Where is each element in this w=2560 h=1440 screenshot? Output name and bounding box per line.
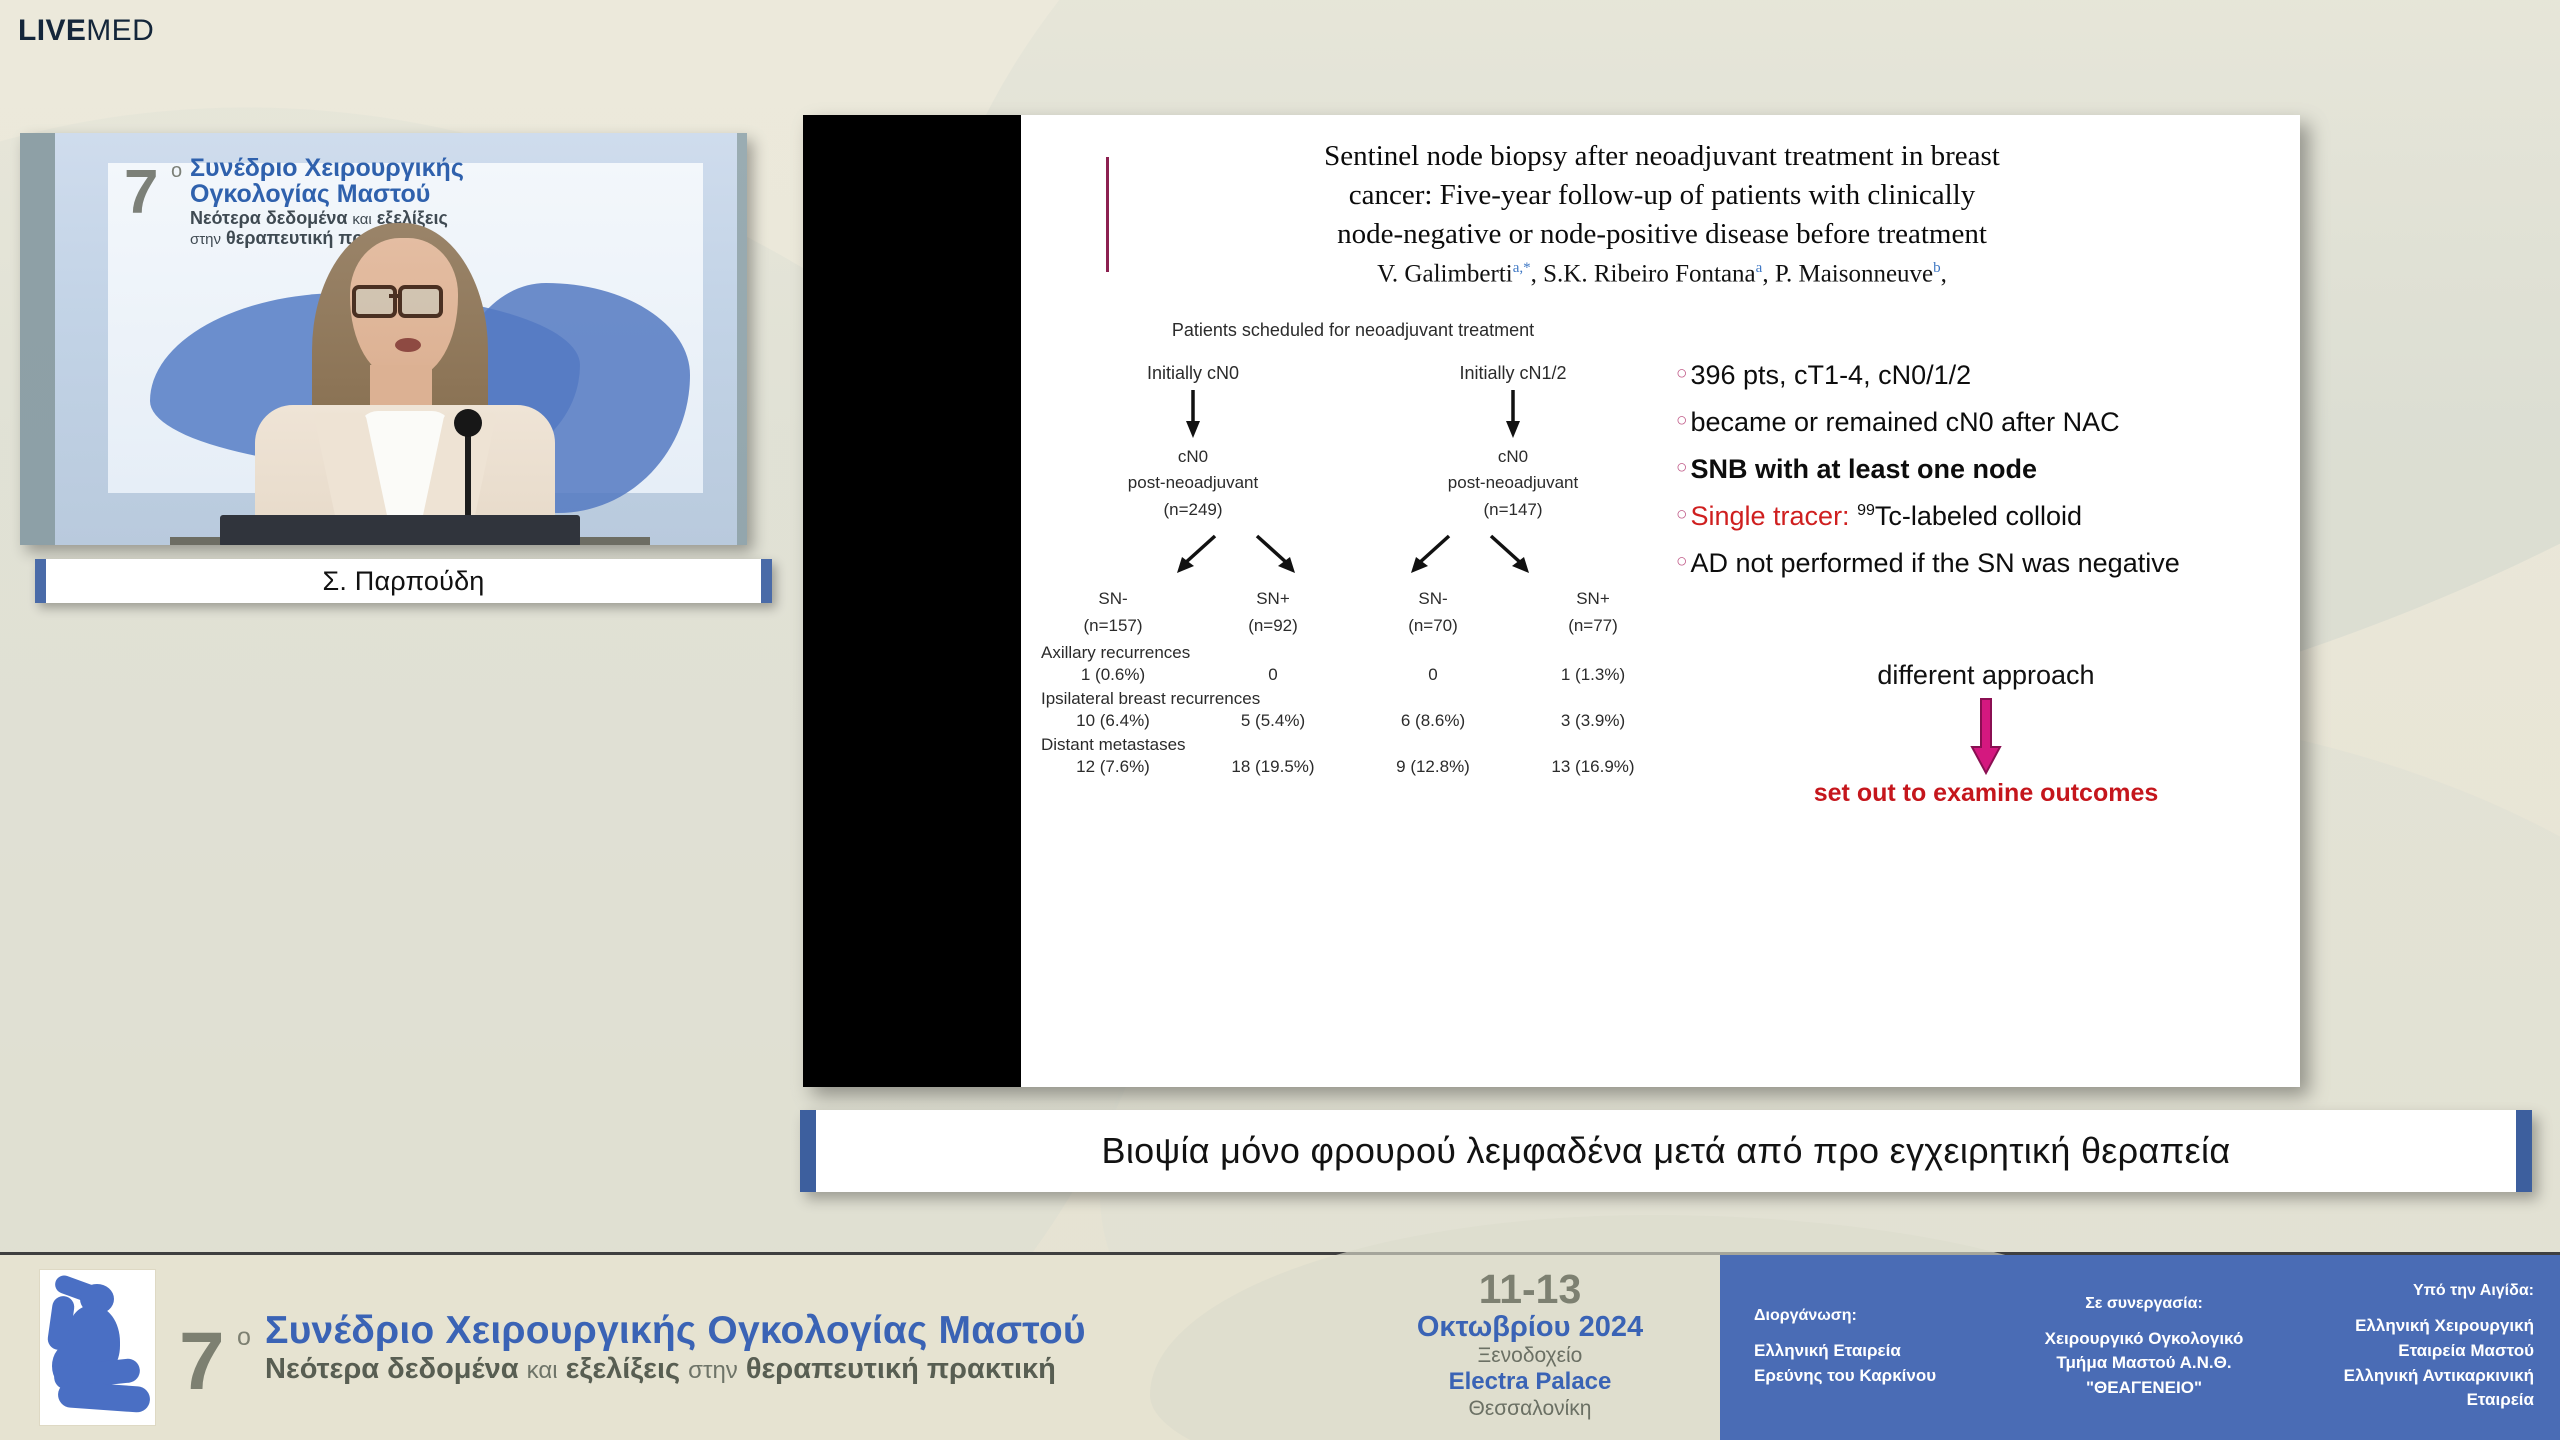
author-2: S.K. Ribeiro Fontana — [1543, 260, 1756, 287]
flow-branch-columns: Initially cN0 cN0 post-neoadjuvant (n=24… — [1033, 363, 1673, 523]
bullet-item-1: ○ became or remained cN0 after NAC — [1676, 407, 2296, 438]
screen-root: LIVEMED 7 o Συνέδριο Χειρουργικής Ογκολο… — [0, 0, 2560, 1440]
speaker-glasses-bridge — [389, 294, 399, 298]
outcome-row-2-value-0: 12 (7.6%) — [1033, 755, 1193, 777]
flow-branch-1-post-line1: cN0 — [1353, 444, 1673, 470]
footer-congress-title: 7 o Συνέδριο Χειρουργικής Ογκολογίας Μασ… — [179, 1311, 1086, 1384]
footer-title-thin-1: και — [527, 1357, 558, 1384]
outcome-row-1-value-0: 10 (6.4%) — [1033, 709, 1193, 731]
flow-branch-0-label: Initially cN0 — [1033, 363, 1353, 384]
outcome-row-2-value-1: 18 (19.5%) — [1193, 755, 1353, 777]
org-block-auspices-head: Υπό την Αιγίδα: — [2285, 1282, 2534, 1300]
diagonal-arrow-right-icon — [1253, 533, 1299, 577]
outcome-row-0-values: 1 (0.6%) 0 0 1 (1.3%) — [1033, 663, 1673, 685]
outcome-row-1-value-1: 5 (5.4%) — [1193, 709, 1353, 731]
diagonal-arrow-left-icon — [1173, 533, 1219, 577]
footer-title-line-2: Νεότερα δεδομένα και εξελίξεις στην θερα… — [265, 1355, 1086, 1384]
org-block-organizer-line-2: Ερεύνης του Καρκίνου — [1754, 1364, 2003, 1389]
bullet-item-4-text: AD not performed if the SN was negative — [1690, 548, 2179, 579]
speaker-video-frame: 7 o Συνέδριο Χειρουργικής Ογκολογίας Μασ… — [20, 133, 747, 545]
backdrop-congress-ordinal: o — [171, 161, 182, 182]
author-sep-1: , — [1531, 260, 1544, 287]
sn-group-labels: SN- (n=157) SN+ (n=92) SN- (n=70) SN+ — [1033, 585, 1673, 639]
org-block-collaboration-head: Σε συνεργασία: — [2019, 1295, 2268, 1313]
footer-title-thin-2: στην — [688, 1357, 738, 1384]
author-sep-2: , — [1762, 260, 1775, 287]
outcome-row-2-value-3: 13 (16.9%) — [1513, 755, 1673, 777]
sn-cell-3-n: (n=77) — [1513, 612, 1673, 639]
outcome-row-0-value-0: 1 (0.6%) — [1033, 663, 1193, 685]
microphone-head — [454, 409, 482, 437]
bullet-item-0: ○ 396 pts, cT1-4, cN0/1/2 — [1676, 360, 2296, 391]
footer-date-block: 11-13 Οκτωβρίου 2024 Ξενοδοχείο Electra … — [1340, 1255, 1720, 1440]
down-arrow-icon — [1033, 384, 1353, 444]
footer-title-bold-3: θεραπευτική πρακτική — [746, 1353, 1056, 1385]
bullet-circle-icon: ○ — [1676, 548, 1687, 576]
sn-cell-3-label: SN+ — [1513, 585, 1673, 612]
bullet-circle-icon: ○ — [1676, 501, 1687, 529]
flow-diagram: Patients scheduled for neoadjuvant treat… — [1033, 320, 1673, 777]
sn-cell-2-label: SN- — [1353, 585, 1513, 612]
backdrop-title-line1: Συνέδριο Χειρουργικής — [190, 155, 624, 181]
outcome-row-1-value-2: 6 (8.6%) — [1353, 709, 1513, 731]
outcome-row-2-value-2: 9 (12.8%) — [1353, 755, 1513, 777]
footer-venue-label: Ξενοδοχείο — [1340, 1343, 1720, 1368]
footer-congress-ordinal: o — [237, 1325, 251, 1350]
brand-light: MED — [86, 14, 154, 47]
diagonal-arrow-left-icon — [1407, 533, 1453, 577]
outcome-row-1-values: 10 (6.4%) 5 (5.4%) 6 (8.6%) 3 (3.9%) — [1033, 709, 1673, 731]
paper-authors: V. Galimbertia,*, S.K. Ribeiro Fontanaa,… — [1021, 260, 2300, 288]
flow-header: Patients scheduled for neoadjuvant treat… — [1033, 320, 1673, 341]
magenta-down-arrow-icon — [1676, 697, 2296, 775]
footer-venue-name: Electra Palace — [1340, 1368, 1720, 1396]
sn-cell-0: SN- (n=157) — [1033, 585, 1193, 639]
bullet-item-1-text: became or remained cN0 after NAC — [1690, 407, 2119, 438]
outcome-row-1-value-3: 3 (3.9%) — [1513, 709, 1673, 731]
org-block-collaboration-line-1: Χειρουργικό Ογκολογικό — [2019, 1327, 2268, 1352]
org-block-organizer-line-1: Ελληνική Εταιρεία — [1754, 1339, 2003, 1364]
brand-strong: LIVE — [18, 14, 86, 47]
paper-title-line-3: node-negative or node-positive disease b… — [1021, 215, 2300, 254]
footer-title-line-1: Συνέδριο Χειρουργικής Ογκολογίας Μαστού — [265, 1311, 1086, 1350]
matisse-leg-2 — [57, 1381, 151, 1413]
footer-city: Θεσσαλονίκη — [1340, 1396, 1720, 1421]
down-arrow-icon — [1353, 384, 1673, 444]
bullet-circle-icon: ○ — [1676, 360, 1687, 388]
footer-title-bold-2: εξελίξεις — [566, 1353, 680, 1385]
sn-cell-1-n: (n=92) — [1193, 612, 1353, 639]
flow-branch-0-post-line2: post-neoadjuvant — [1033, 470, 1353, 496]
author-trailing-comma: , — [1941, 260, 1947, 287]
org-block-auspices-line-2: Ελληνική Αντικαρκινική Εταιρεία — [2285, 1364, 2534, 1413]
backdrop-subtitle-thin2: στην — [190, 231, 221, 248]
flow-branch-0: Initially cN0 cN0 post-neoadjuvant (n=24… — [1033, 363, 1353, 523]
bullet-item-3-text: Single tracer: 99Tc-labeled colloid — [1690, 501, 2082, 532]
backdrop-subtitle-bold1: Νεότερα δεδομένα — [190, 208, 347, 228]
backdrop-congress-number: 7 — [124, 161, 158, 225]
author-3: P. Maisonneuve — [1775, 260, 1933, 287]
org-block-auspices: Υπό την Αιγίδα: Ελληνική Χειρουργική Ετα… — [2285, 1282, 2534, 1413]
bullet-item-2: ○ SNB with at least one node — [1676, 454, 2296, 485]
diagonal-arrow-right-icon — [1487, 533, 1533, 577]
footer-congress-number: 7 — [179, 1321, 225, 1403]
sn-cell-2: SN- (n=70) — [1353, 585, 1513, 639]
approach-top-text: different approach — [1676, 660, 2296, 691]
outcome-row-1-label: Ipsilateral breast recurrences — [1033, 689, 1673, 709]
bullet-item-0-text: 396 pts, cT1-4, cN0/1/2 — [1690, 360, 1971, 391]
slide-bullet-list: ○ 396 pts, cT1-4, cN0/1/2 ○ became or re… — [1676, 360, 2296, 595]
outcome-row-2-values: 12 (7.6%) 18 (19.5%) 9 (12.8%) 13 (16.9%… — [1033, 755, 1673, 777]
slide-content: Sentinel node biopsy after neoadjuvant t… — [1021, 115, 2300, 1087]
paper-title: Sentinel node biopsy after neoadjuvant t… — [1021, 137, 2300, 254]
org-block-organizer: Διοργάνωση: Ελληνική Εταιρεία Ερεύνης το… — [1754, 1307, 2003, 1388]
backdrop-title-line2: Ογκολογίας Μαστού — [190, 181, 624, 207]
approach-callout: different approach set out to examine ou… — [1676, 660, 2296, 808]
flow-branch-0-post-n: (n=249) — [1033, 497, 1353, 523]
matisse-logo — [40, 1270, 155, 1425]
sn-cell-3: SN+ (n=77) — [1513, 585, 1673, 639]
flow-branch-1-post-n: (n=147) — [1353, 497, 1673, 523]
sn-cell-2-n: (n=70) — [1353, 612, 1513, 639]
video-left-band — [20, 133, 55, 545]
footer-date-month-year: Οκτωβρίου 2024 — [1340, 1311, 1720, 1343]
speaker-glasses-right — [398, 285, 443, 318]
bullet-circle-icon: ○ — [1676, 407, 1687, 435]
laptop — [220, 515, 580, 545]
footer-title-bold-1: Νεότερα δεδομένα — [265, 1353, 519, 1385]
outcome-row-2-label: Distant metastases — [1033, 735, 1673, 755]
speaker-nameplate: Σ. Παρπούδη — [35, 559, 772, 603]
bullet-circle-icon: ○ — [1676, 454, 1687, 482]
speaker-name: Σ. Παρπούδη — [322, 566, 484, 597]
speaker-glasses-left — [352, 285, 397, 318]
congress-footer: 7 o Συνέδριο Χειρουργικής Ογκολογίας Μασ… — [0, 1252, 2560, 1440]
bullet-item-3-red: Single tracer: — [1690, 501, 1849, 531]
paper-title-line-2: cancer: Five-year follow-up of patients … — [1021, 176, 2300, 215]
org-block-collaboration: Σε συνεργασία: Χειρουργικό Ογκολογικό Τμ… — [2019, 1295, 2268, 1401]
paper-title-line-1: Sentinel node biopsy after neoadjuvant t… — [1021, 137, 2300, 176]
footer-branding: 7 o Συνέδριο Χειρουργικής Ογκολογίας Μασ… — [0, 1255, 1340, 1440]
session-title-text: Βιοψία μόνο φρουρού λεμφαδένα μετά από π… — [1102, 1130, 2231, 1172]
footer-organizations-panel: Διοργάνωση: Ελληνική Εταιρεία Ερεύνης το… — [1720, 1255, 2560, 1440]
org-block-collaboration-line-2: Τμήμα Μαστού Α.Ν.Θ. "ΘΕΑΓΕΝΕΙΟ" — [2019, 1351, 2268, 1400]
bullet-item-4: ○ AD not performed if the SN was negativ… — [1676, 548, 2296, 579]
speaker-mouth — [395, 338, 421, 352]
org-block-auspices-line-1: Ελληνική Χειρουργική Εταιρεία Μαστού — [2285, 1314, 2534, 1363]
flow-branch-1-label: Initially cN1/2 — [1353, 363, 1673, 384]
author-1-sup: a,* — [1513, 260, 1531, 276]
flow-branch-0-post-line1: cN0 — [1033, 444, 1353, 470]
author-1: V. Galimberti — [1377, 260, 1513, 287]
approach-bottom-text: set out to examine outcomes — [1676, 779, 2296, 808]
bullet-item-3-sup: 99 — [1857, 502, 1875, 519]
flow-split-arrows — [1033, 533, 1673, 581]
bullet-item-3: ○ Single tracer: 99Tc-labeled colloid — [1676, 501, 2296, 532]
outcome-row-0-value-1: 0 — [1193, 663, 1353, 685]
flow-branch-1: Initially cN1/2 cN0 post-neoadjuvant (n=… — [1353, 363, 1673, 523]
bullet-item-2-text: SNB with at least one node — [1690, 454, 2037, 485]
sn-cell-0-n: (n=157) — [1033, 612, 1193, 639]
org-block-organizer-head: Διοργάνωση: — [1754, 1307, 2003, 1325]
outcome-row-0-value-2: 0 — [1353, 663, 1513, 685]
session-title-caption: Βιοψία μόνο φρουρού λεμφαδένα μετά από π… — [800, 1110, 2532, 1192]
author-3-sup: b — [1933, 260, 1941, 276]
slide-viewer[interactable]: Sentinel node biopsy after neoadjuvant t… — [803, 115, 2300, 1087]
speaker-video-panel[interactable]: 7 o Συνέδριο Χειρουργικής Ογκολογίας Μασ… — [20, 133, 747, 545]
sn-cell-0-label: SN- — [1033, 585, 1193, 612]
sn-cell-1-label: SN+ — [1193, 585, 1353, 612]
bullet-item-3-rest: Tc-labeled colloid — [1875, 501, 2082, 531]
livemed-logo: LIVEMED — [18, 14, 154, 48]
sn-cell-1: SN+ (n=92) — [1193, 585, 1353, 639]
flow-branch-1-post-line2: post-neoadjuvant — [1353, 470, 1673, 496]
footer-date-days: 11-13 — [1340, 1269, 1720, 1311]
outcome-row-0-label: Axillary recurrences — [1033, 643, 1673, 663]
backdrop-subtitle-thin1: και — [352, 211, 371, 228]
video-right-band — [737, 133, 747, 545]
outcome-row-0-value-3: 1 (1.3%) — [1513, 663, 1673, 685]
